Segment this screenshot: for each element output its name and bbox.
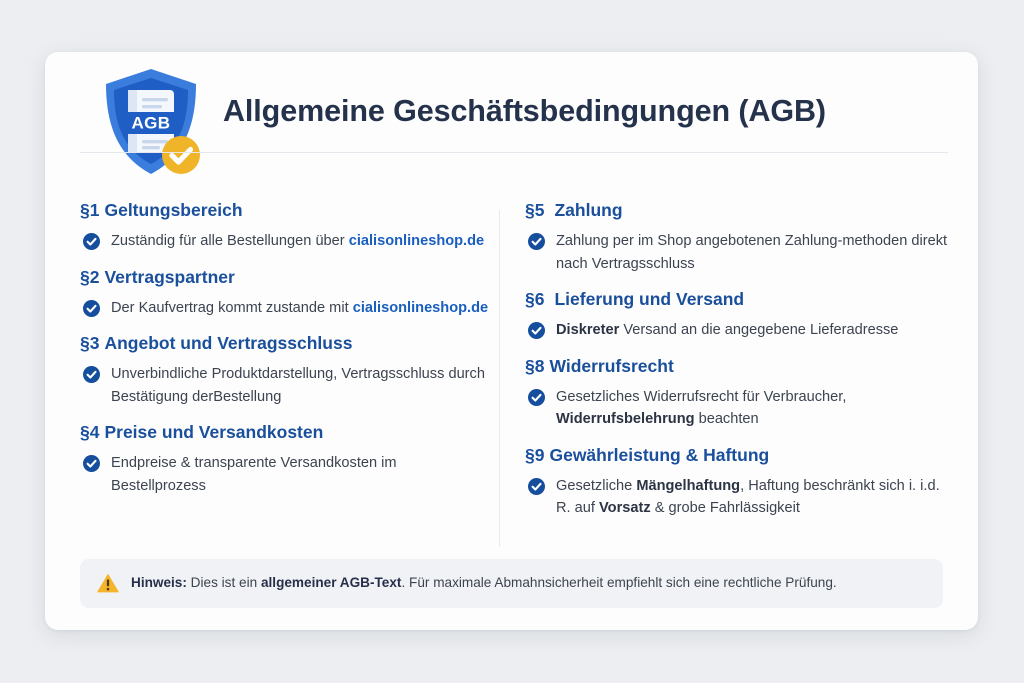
emphasis-term: Mängelhaftung [636, 478, 740, 494]
section-bullet-item: Der Kaufvertrag kommt zustande mit ciali… [80, 297, 490, 320]
section-heading-left-3: §4Preise und Versandkosten [80, 422, 490, 443]
emphasis-term: Vorsatz [599, 500, 651, 516]
bullet-text: Gesetzliche Mängelhaftung, Haftung besch… [556, 478, 940, 517]
header-divider [80, 152, 948, 153]
hint-notice-text: Hinweis: Dies ist ein allgemeiner AGB-Te… [131, 574, 837, 592]
agb-section: §2VertragspartnerDer Kaufvertrag kommt z… [80, 267, 490, 320]
section-number: §3 [80, 333, 99, 353]
bullet-text: Zuständig für alle Bestellungen über cia… [111, 233, 484, 249]
check-circle-icon [528, 322, 545, 339]
section-number: §5 [525, 200, 544, 220]
section-heading-right-2: §8Widerrufsrecht [525, 356, 950, 377]
sections-column-right: §5ZahlungZahlung per im Shop angebotenen… [525, 200, 950, 534]
check-circle-icon [83, 233, 100, 250]
section-title: Angebot und Vertragsschluss [104, 333, 352, 353]
check-circle-icon [83, 300, 100, 317]
section-number: §6 [525, 289, 544, 309]
section-title: Lieferung und Versand [554, 289, 744, 309]
section-heading-left-0: §1Geltungsbereich [80, 200, 490, 221]
section-bullet-item: Endpreise & transparente Versandkosten i… [80, 452, 490, 497]
section-title: Preise und Versandkosten [104, 422, 323, 442]
section-title: Widerrufsrecht [549, 356, 673, 376]
column-divider [499, 210, 500, 547]
card-header: AGB Allgemeine Geschäftsbedingungen (AGB… [45, 52, 978, 152]
agb-section: §4Preise und VersandkostenEndpreise & tr… [80, 422, 490, 497]
section-heading-left-1: §2Vertragspartner [80, 267, 490, 288]
section-title: Zahlung [554, 200, 622, 220]
shop-domain-link[interactable]: cialisonlineshop.de [349, 230, 484, 253]
section-bullet-item: Zahlung per im Shop angebotenen Zahlung-… [525, 230, 950, 275]
emphasis-term: allgemeiner AGB-Text [261, 575, 402, 590]
section-number: §1 [80, 200, 99, 220]
bullet-text: Gesetzliches Widerrufsrecht für Verbrauc… [556, 389, 846, 428]
section-bullet-item: Unverbindliche Produktdarstellung, Vertr… [80, 363, 490, 408]
section-title: Gewährleistung & Haftung [549, 445, 769, 465]
hint-notice-bar: Hinweis: Dies ist ein allgemeiner AGB-Te… [80, 559, 943, 608]
agb-section: §3Angebot und VertragsschlussUnverbindli… [80, 333, 490, 408]
agb-section: §9Gewährleistung & HaftungGesetzliche Mä… [525, 445, 950, 520]
section-bullet-item: Zuständig für alle Bestellungen über cia… [80, 230, 490, 253]
agb-section: §8WiderrufsrechtGesetzliches Widerrufsre… [525, 356, 950, 431]
section-title: Vertragspartner [104, 267, 234, 287]
sections-column-left: §1GeltungsbereichZuständig für alle Best… [80, 200, 490, 511]
check-circle-icon [528, 233, 545, 250]
shop-domain-link[interactable]: cialisonlineshop.de [353, 297, 488, 320]
page-title: Allgemeine Geschäftsbedingungen (AGB) [223, 94, 826, 129]
section-bullet-item: Gesetzliches Widerrufsrecht für Verbrauc… [525, 386, 950, 431]
agb-card: AGB Allgemeine Geschäftsbedingungen (AGB… [45, 52, 978, 630]
section-bullet-item: Diskreter Versand an die angegebene Lief… [525, 319, 950, 342]
section-heading-left-2: §3Angebot und Vertragsschluss [80, 333, 490, 354]
agb-section: §5ZahlungZahlung per im Shop angebotenen… [525, 200, 950, 275]
section-number: §4 [80, 422, 99, 442]
check-circle-icon [528, 389, 545, 406]
agb-shield-document-icon: AGB [95, 64, 207, 182]
bullet-text: Zahlung per im Shop angebotenen Zahlung-… [556, 233, 947, 272]
warning-triangle-icon [96, 571, 120, 595]
svg-text:AGB: AGB [132, 114, 171, 133]
emphasis-term: Widerrufsbelehrung [556, 411, 695, 427]
section-title: Geltungsbereich [104, 200, 242, 220]
check-circle-icon [528, 478, 545, 495]
bullet-text: Unverbindliche Produktdarstellung, Vertr… [111, 366, 485, 405]
section-number: §8 [525, 356, 544, 376]
check-circle-icon [83, 366, 100, 383]
check-circle-icon [83, 455, 100, 472]
bullet-text: Diskreter Versand an die angegebene Lief… [556, 322, 898, 338]
section-heading-right-0: §5Zahlung [525, 200, 950, 221]
section-heading-right-1: §6Lieferung und Versand [525, 289, 950, 310]
page-root: AGB Allgemeine Geschäftsbedingungen (AGB… [0, 0, 1024, 683]
section-number: §9 [525, 445, 544, 465]
agb-section: §1GeltungsbereichZuständig für alle Best… [80, 200, 490, 253]
emphasis-term: Hinweis: [131, 575, 187, 590]
agb-section: §6Lieferung und VersandDiskreter Versand… [525, 289, 950, 342]
bullet-text: Der Kaufvertrag kommt zustande mit ciali… [111, 300, 488, 316]
section-heading-right-3: §9Gewährleistung & Haftung [525, 445, 950, 466]
section-bullet-item: Gesetzliche Mängelhaftung, Haftung besch… [525, 475, 950, 520]
section-number: §2 [80, 267, 99, 287]
bullet-text: Endpreise & transparente Versandkosten i… [111, 455, 397, 494]
emphasis-term: Diskreter [556, 322, 619, 338]
